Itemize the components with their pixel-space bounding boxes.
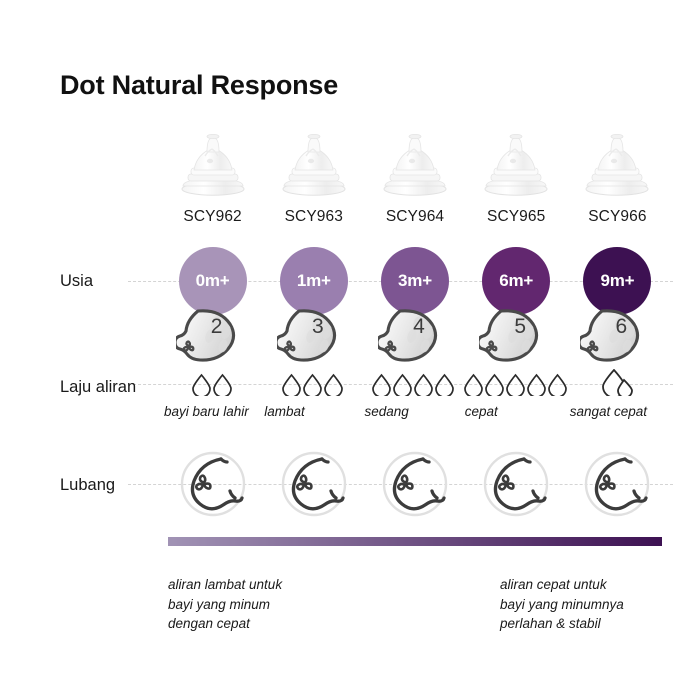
teat-number-cell: 6 [567,308,668,364]
flow-rate-label: sedang [361,403,465,421]
teat-hole-icon [583,450,651,518]
product-code: SCY962 [183,208,241,226]
teat-size-icon: 4 [378,308,452,364]
hole-cell [466,450,567,518]
teat-size-icon: 6 [580,308,654,364]
teat-photo-icon [275,134,353,196]
teat-hole-icon [381,450,449,518]
age-badge-cell: 3m+ [364,247,465,315]
page-title: Dot Natural Response [60,70,338,101]
product-code-cell: SCY962 [162,208,263,226]
flow-rate-cell: bayi baru lahir [162,372,262,421]
age-badge-cell: 0m+ [162,247,263,315]
product-code-cell: SCY964 [364,208,465,226]
flow-rate-cell: lambat [262,372,362,421]
product-code: SCY965 [487,208,545,226]
age-badge-cell: 9m+ [567,247,668,315]
product-code: SCY966 [588,208,646,226]
teat-photo-icon [376,134,454,196]
teat-number-cell: 5 [466,308,567,364]
hole-row [162,450,668,518]
age-badge-cell: 1m+ [263,247,364,315]
flow-drop-group [191,372,233,396]
product-code-cell: SCY963 [263,208,364,226]
product-photo-row [162,134,668,196]
flow-rate-row: bayi baru lahir lambat sedang cepat sang… [162,372,668,421]
age-badge-cell: 6m+ [466,247,567,315]
flow-rate-cell: sedang [363,372,463,421]
product-photo-cell [364,134,465,196]
flow-gradient-bar [168,537,662,546]
product-photo-cell [466,134,567,196]
teat-photo-icon [477,134,555,196]
teat-number-row: 2 3 [162,308,668,364]
flow-drop-group [281,372,344,396]
flow-drop-group [601,372,635,396]
teat-number-label: 3 [277,315,351,339]
teat-size-icon: 3 [277,308,351,364]
hole-cell [162,450,263,518]
product-code: SCY963 [285,208,343,226]
product-photo-cell [162,134,263,196]
teat-number-label: 5 [479,315,553,339]
age-badge-row: 0m+1m+3m+6m+9m+ [162,247,668,315]
flow-rate-cell: sangat cepat [568,372,668,421]
teat-photo-icon [174,134,252,196]
hole-cell [567,450,668,518]
teat-hole-icon [280,450,348,518]
teat-hole-icon [179,450,247,518]
teat-number-cell: 4 [364,308,465,364]
age-badge: 3m+ [381,247,449,315]
teat-number-label: 6 [580,315,654,339]
flow-rate-label: lambat [260,403,364,421]
flow-drop-group [463,372,568,396]
flow-drop-group [371,372,455,396]
product-code-row: SCY962SCY963SCY964SCY965SCY966 [162,208,668,226]
product-photo-cell [567,134,668,196]
teat-hole-icon [482,450,550,518]
teat-number-label: 4 [378,315,452,339]
flow-rate-label: bayi baru lahir [160,403,264,421]
teat-size-icon: 5 [479,308,553,364]
hole-cell [263,450,364,518]
age-badge: 9m+ [583,247,651,315]
caption-fast-flow: aliran cepat untuk bayi yang minumnya pe… [500,575,624,634]
age-badge: 0m+ [179,247,247,315]
infographic-page: Dot Natural Response [0,0,700,700]
row-label-flow: Laju aliran [60,378,136,397]
product-code-cell: SCY966 [567,208,668,226]
age-badge: 1m+ [280,247,348,315]
teat-number-cell: 2 [162,308,263,364]
product-code-cell: SCY965 [466,208,567,226]
flow-rate-cell: cepat [463,372,568,421]
teat-number-label: 2 [176,315,250,339]
flow-rate-label: cepat [461,403,570,421]
product-photo-cell [263,134,364,196]
caption-slow-flow: aliran lambat untuk bayi yang minum deng… [168,575,282,634]
hole-cell [364,450,465,518]
age-badge: 6m+ [482,247,550,315]
row-label-age: Usia [60,272,93,291]
teat-number-cell: 3 [263,308,364,364]
flow-rate-label: sangat cepat [566,403,670,421]
row-label-hole: Lubang [60,476,115,495]
teat-size-icon: 2 [176,308,250,364]
product-code: SCY964 [386,208,444,226]
teat-photo-icon [578,134,656,196]
